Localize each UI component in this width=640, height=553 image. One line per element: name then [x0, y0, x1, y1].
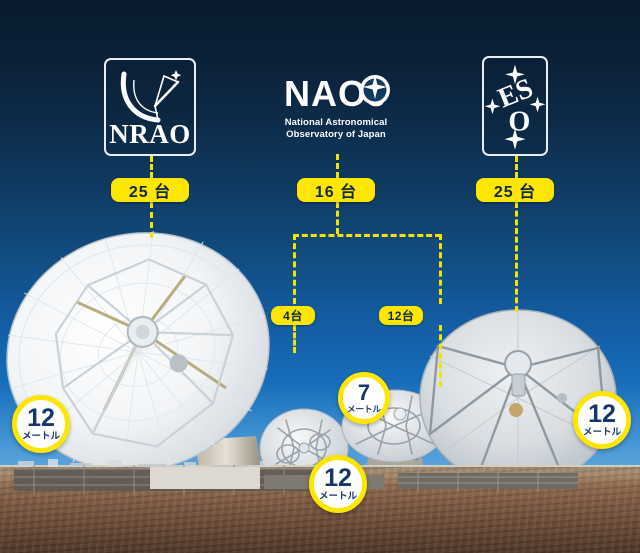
naoj-subtitle: National Astronomical Observatory of Jap…: [285, 117, 388, 140]
badge-nrao-count[interactable]: 25 台: [111, 178, 189, 202]
size-unit: メートル: [22, 432, 60, 442]
badge-naoj-12dai[interactable]: 12台: [379, 306, 423, 325]
size-value: 12: [27, 407, 55, 431]
badge-naoj-4dai[interactable]: 4台: [271, 306, 315, 325]
size-unit: メートル: [583, 428, 621, 438]
connector-nrao-bottom: [150, 202, 153, 238]
badge-eso-count[interactable]: 25 台: [476, 178, 554, 202]
eso-logo[interactable]: ES O: [482, 56, 548, 156]
eso-wordmark-bottom: O: [508, 106, 530, 137]
nrao-logo[interactable]: NRAO: [104, 58, 196, 156]
connector-naoj-trunk: [336, 202, 339, 234]
naoj-subtitle-line2: Observatory of Japan: [285, 129, 388, 141]
badge-size-naoj-12m[interactable]: 12 メートル: [309, 455, 367, 513]
badge-size-nrao-12m[interactable]: 12 メートル: [12, 395, 70, 453]
connector-naoj-branch: [293, 234, 441, 237]
connector-eso-bottom: [515, 202, 518, 312]
connector-naoj-right: [439, 234, 442, 304]
connector-eso-top: [515, 156, 518, 178]
naoj-star-icon: [358, 73, 392, 107]
size-unit: メートル: [347, 405, 381, 414]
badge-naoj-count[interactable]: 16 台: [297, 178, 375, 202]
naoj-logo[interactable]: NAOJ National Astronomical Observatory o…: [268, 62, 404, 154]
size-unit: メートル: [319, 492, 357, 502]
connector-naoj-left: [293, 234, 296, 304]
connector-naoj-12dai-down: [439, 325, 442, 387]
size-value: 12: [324, 467, 352, 491]
size-value: 12: [588, 403, 616, 427]
infographic-canvas: NRAO NAOJ National Astronomical Observat…: [0, 0, 640, 553]
badge-size-naoj-7m[interactable]: 7 メートル: [338, 372, 390, 424]
connector-nrao-top: [150, 156, 153, 178]
naoj-subtitle-line1: National Astronomical: [285, 117, 388, 129]
eso-mark-icon: ES O: [484, 58, 546, 154]
connector-naoj-top: [336, 154, 339, 178]
badge-size-eso-12m[interactable]: 12 メートル: [573, 391, 631, 449]
size-value: 7: [358, 383, 370, 404]
nrao-dish-icon: [114, 66, 190, 128]
connector-naoj-4dai-down: [293, 325, 296, 353]
